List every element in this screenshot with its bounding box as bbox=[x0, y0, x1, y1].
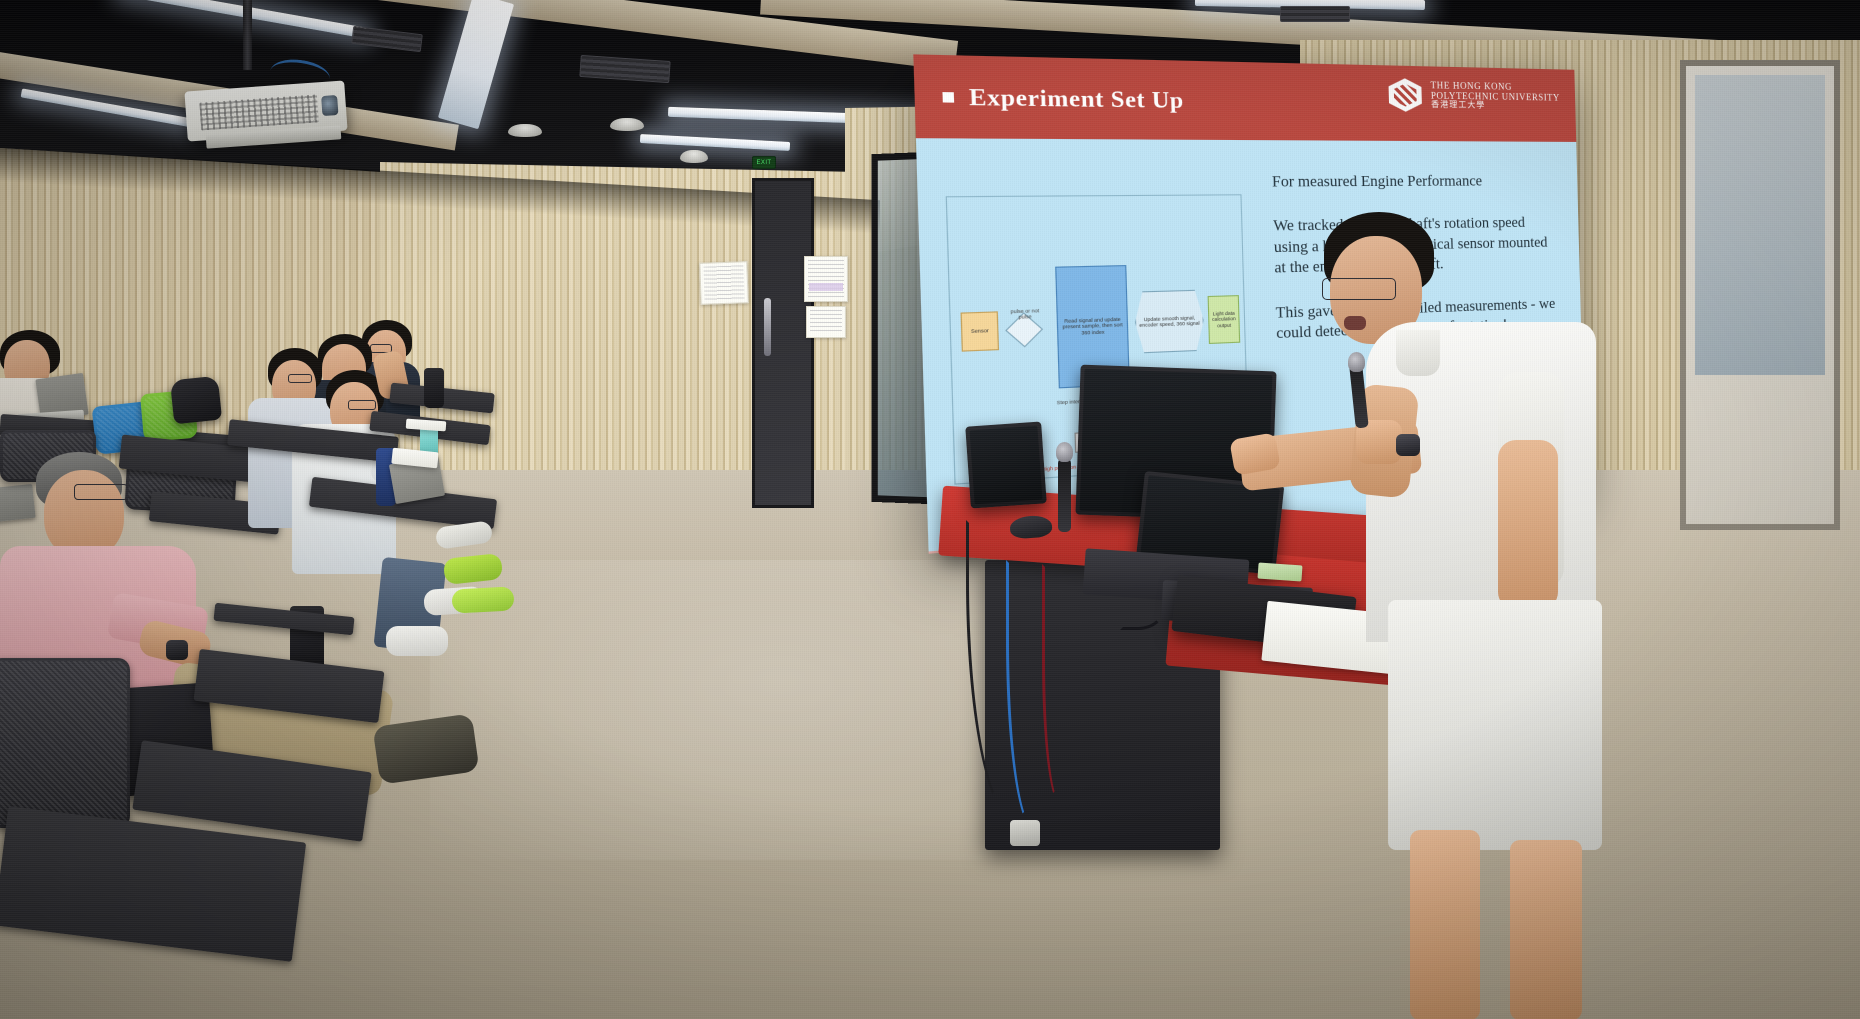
slide-header: Experiment Set Up THE HONG KONG POLYTECH… bbox=[913, 54, 1576, 142]
eyeglasses bbox=[348, 400, 376, 410]
exit-sign-label: EXIT bbox=[757, 160, 772, 166]
notice-text-lines bbox=[808, 260, 844, 298]
tablet-screen bbox=[970, 426, 1043, 505]
projector-grille bbox=[199, 94, 319, 130]
laptop-screen[interactable] bbox=[0, 484, 36, 522]
chair-mesh-texture bbox=[0, 661, 127, 825]
notice-text-lines bbox=[810, 310, 842, 334]
ceiling-light bbox=[640, 134, 790, 151]
eyeglasses bbox=[1322, 278, 1396, 300]
projector-mount bbox=[243, 0, 252, 70]
control-tablet[interactable] bbox=[965, 421, 1047, 508]
wristwatch bbox=[166, 640, 188, 660]
microphone-head-icon bbox=[1056, 442, 1073, 462]
wall-notice-left bbox=[699, 261, 748, 305]
classroom-door[interactable] bbox=[752, 178, 814, 508]
leg bbox=[1410, 830, 1480, 1019]
ceiling-vent bbox=[351, 26, 423, 52]
microphone-head-icon bbox=[1348, 352, 1365, 372]
eyeglasses bbox=[288, 374, 312, 383]
shorts bbox=[1388, 600, 1602, 850]
university-logo: THE HONG KONG POLYTECHNIC UNIVERSITY 香港理… bbox=[1388, 78, 1560, 114]
ceiling-vent bbox=[579, 55, 670, 83]
logo-line-3: 香港理工大學 bbox=[1431, 101, 1560, 112]
green-card[interactable] bbox=[1257, 562, 1302, 581]
wall-notice-right bbox=[804, 256, 848, 302]
slide-title-bullet-icon bbox=[942, 91, 954, 102]
arm-right bbox=[1498, 440, 1558, 610]
notice-text-lines bbox=[703, 265, 744, 300]
classroom-scene: EXIT Experiment Set Up THE HONG KONG POL… bbox=[0, 0, 1860, 1019]
ceiling-vent bbox=[1280, 6, 1350, 22]
handheld-microphone[interactable] bbox=[1058, 458, 1071, 532]
projector-lens bbox=[321, 95, 338, 116]
slide-heading: For measured Engine Performance bbox=[1272, 172, 1557, 193]
notice-highlight bbox=[809, 283, 843, 291]
smoke-detector bbox=[680, 150, 708, 163]
slide-title: Experiment Set Up bbox=[969, 83, 1185, 114]
door-handle[interactable] bbox=[764, 298, 771, 356]
diagram-node-output: Light data calculation output bbox=[1208, 295, 1241, 344]
polyu-mark-icon bbox=[1388, 78, 1422, 112]
smoke-detector bbox=[610, 118, 644, 131]
far-door-glass bbox=[1695, 75, 1825, 375]
shoe-green bbox=[451, 586, 514, 613]
diagram-node-start: Sensor bbox=[961, 311, 1000, 351]
smoke-detector bbox=[508, 124, 542, 137]
eyeglasses bbox=[74, 484, 128, 500]
ceiling-light bbox=[438, 0, 514, 129]
leg bbox=[1510, 840, 1582, 1019]
exit-sign: EXIT bbox=[752, 156, 776, 169]
shoe bbox=[386, 626, 448, 656]
university-logo-text: THE HONG KONG POLYTECHNIC UNIVERSITY 香港理… bbox=[1430, 81, 1560, 112]
chair-front[interactable] bbox=[0, 658, 130, 828]
diagram-decision-label: pulse or not pulse bbox=[1005, 308, 1044, 321]
mouth bbox=[1344, 316, 1366, 330]
backpack bbox=[170, 376, 222, 425]
polo-collar bbox=[1396, 330, 1440, 376]
wristwatch bbox=[1396, 434, 1420, 456]
cable-plug bbox=[1010, 820, 1040, 846]
thermos[interactable] bbox=[424, 368, 444, 408]
wall-notice-lower bbox=[806, 306, 846, 338]
diagram-node-hex: Update smooth signal, encoder speed, 360… bbox=[1134, 290, 1205, 354]
